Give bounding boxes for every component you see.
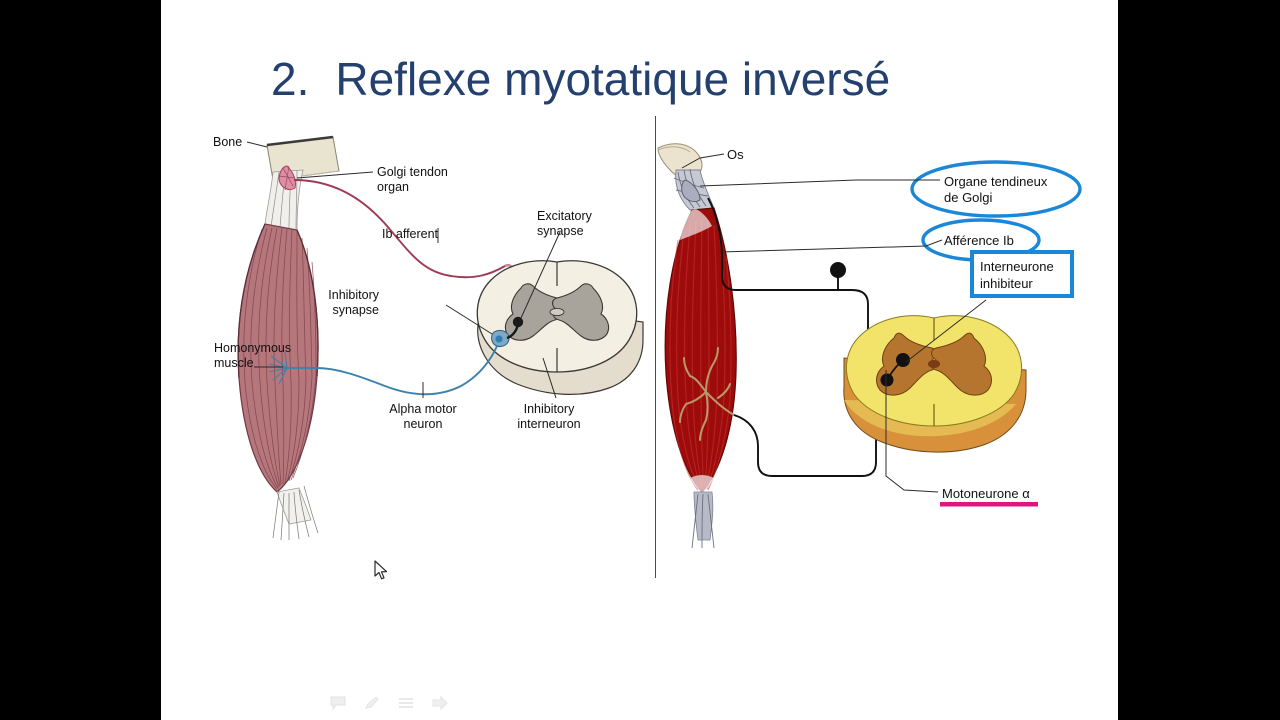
label-alpha-motor-neuron-line1: Alpha motor — [389, 402, 456, 416]
annotation-motoneurone-alpha[interactable]: Motoneurone α — [940, 486, 1038, 507]
comment-icon[interactable] — [329, 695, 347, 711]
label-inhibitory-interneuron-line1: Inhibitory — [524, 402, 575, 416]
label-os: Os — [727, 147, 744, 162]
label-inhibitory-synapse-line2: synapse — [332, 303, 379, 317]
spinal-cord-cross-section-left — [477, 261, 643, 395]
label-interneurone-inhibiteur-line2: inhibiteur — [980, 276, 1033, 291]
muscle-shape-right — [665, 208, 736, 492]
leader-bone — [247, 142, 267, 147]
label-bone: Bone — [213, 135, 242, 149]
label-golgi-tendon-organ-line2: organ — [377, 180, 409, 194]
lower-tendon — [273, 486, 318, 540]
player-toolbar[interactable] — [329, 692, 449, 714]
screen: 2.Reflexe myotatique inversé — [0, 0, 1280, 720]
label-motoneurone-alpha: Motoneurone α — [942, 486, 1030, 501]
right-figure-svg: Os Organe tendineux de Golgi Afférence I… — [656, 0, 1118, 720]
label-inhibitory-interneuron-line2: interneuron — [517, 417, 580, 431]
label-homonymous-muscle-line1: Homonymous — [214, 341, 291, 355]
annotation-interneurone-inhibiteur[interactable]: Interneurone inhibiteur — [972, 252, 1072, 296]
inhibitory-interneuron-shape — [492, 330, 509, 346]
pen-icon[interactable] — [363, 695, 381, 711]
right-diagram-panel: Os Organe tendineux de Golgi Afférence I… — [656, 0, 1118, 720]
label-organe-tendineux-golgi-line2: de Golgi — [944, 190, 993, 205]
lower-tendon-right — [692, 492, 714, 548]
leader-afference-ib — [720, 240, 942, 252]
label-inhibitory-synapse-line1: Inhibitory — [328, 288, 379, 302]
left-figure-svg: Bone Golgi tendon organ Ib afferent Exci… — [161, 0, 655, 720]
label-afference-ib: Afférence Ib — [944, 233, 1014, 248]
label-interneurone-inhibiteur-line1: Interneurone — [980, 259, 1054, 274]
label-excitatory-synapse-line2: synapse — [537, 224, 584, 238]
leader-organe-tendineux-golgi — [700, 180, 940, 186]
mouse-cursor — [374, 560, 390, 582]
label-golgi-tendon-organ-line1: Golgi tendon — [377, 165, 448, 179]
menu-icon[interactable] — [397, 695, 415, 711]
label-organe-tendineux-golgi-line1: Organe tendineux — [944, 174, 1048, 189]
spinal-cord-cross-section-right — [844, 316, 1026, 452]
slide-canvas: 2.Reflexe myotatique inversé — [161, 0, 1118, 720]
left-diagram-panel: Bone Golgi tendon organ Ib afferent Exci… — [161, 0, 655, 720]
label-homonymous-muscle-line2: muscle — [214, 356, 254, 370]
label-ib-afferent: Ib afferent — [382, 227, 439, 241]
next-icon[interactable] — [431, 695, 449, 711]
dorsal-root-ganglion — [830, 262, 846, 290]
label-alpha-motor-neuron-line2: neuron — [404, 417, 443, 431]
annotation-organe-tendineux-golgi[interactable]: Organe tendineux de Golgi — [912, 162, 1080, 216]
label-excitatory-synapse-line1: Excitatory — [537, 209, 593, 223]
